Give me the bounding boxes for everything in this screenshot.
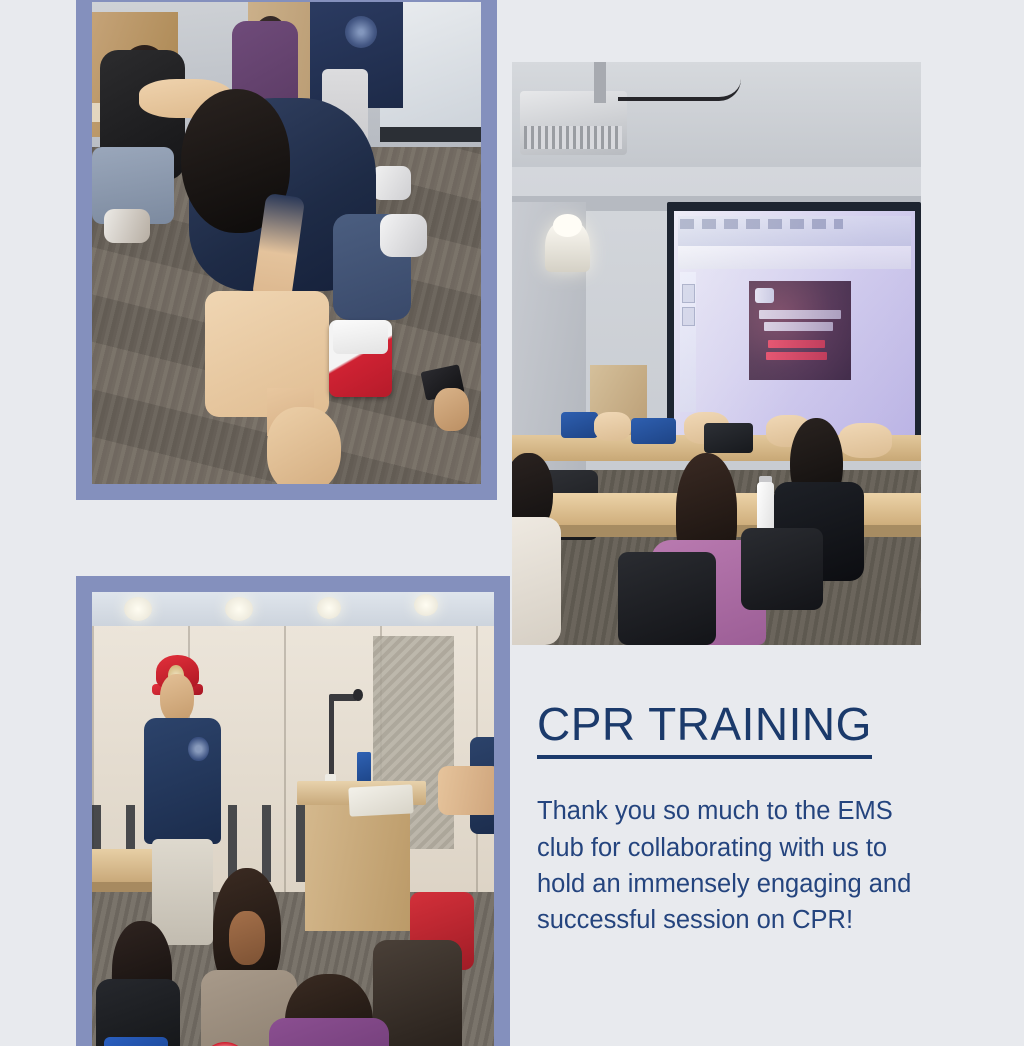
ceiling-light — [414, 594, 438, 616]
page-title: CPR TRAINING — [537, 700, 872, 759]
body-text: Thank you so much to the EMS club for co… — [537, 793, 929, 938]
photo-image-podium-session — [92, 592, 494, 1046]
photo-image-classroom-projector — [512, 62, 921, 645]
white-sneaker — [372, 166, 411, 200]
manikin-head — [267, 407, 341, 484]
blue-training-bag — [561, 412, 598, 438]
left-student-shoe — [104, 209, 151, 243]
ceiling-light — [225, 597, 253, 621]
manikin-torso — [839, 423, 892, 458]
shirt-logo — [188, 737, 208, 761]
blue-training-bag — [631, 418, 676, 444]
photo-podium-session — [76, 576, 510, 1046]
student-purple-top — [269, 1018, 390, 1046]
seated-student-white-top — [512, 517, 561, 645]
whiteboard-tray — [380, 127, 481, 141]
photo-cpr-manikin — [76, 0, 497, 500]
instructor-shirt — [144, 718, 220, 844]
ceiling-light — [317, 597, 341, 619]
black-case — [704, 423, 753, 452]
ceiling-cable — [618, 79, 741, 100]
instructor-pants — [152, 839, 212, 945]
text-block: CPR TRAINING Thank you so much to the EM… — [537, 700, 937, 938]
hand-holding-phone — [434, 388, 469, 431]
instructor-head — [160, 674, 194, 722]
scene-podium-session — [92, 592, 494, 1046]
wall-sconce-glow — [553, 214, 582, 237]
papers-on-podium — [349, 784, 415, 816]
blue-training-equipment — [104, 1037, 168, 1046]
projection-glow — [674, 211, 915, 438]
student-black-top — [96, 979, 180, 1046]
aed-lid — [333, 320, 387, 354]
microphone-stand — [329, 698, 334, 785]
classroom-chair — [618, 552, 716, 645]
projector-vent — [524, 126, 622, 149]
reaching-arm — [438, 766, 494, 814]
kneeling-student-shoe — [380, 214, 427, 257]
photo-classroom-projector — [512, 62, 921, 645]
scene-cpr-manikin — [92, 2, 481, 484]
photo-image-cpr-manikin — [92, 2, 481, 484]
projector-mount — [594, 62, 606, 103]
classroom-chair — [741, 528, 823, 610]
collage-canvas: CPR TRAINING Thank you so much to the EM… — [0, 0, 1024, 1024]
manikin-torso — [594, 412, 631, 441]
scene-classroom-projector — [512, 62, 921, 645]
student-face — [229, 911, 265, 964]
